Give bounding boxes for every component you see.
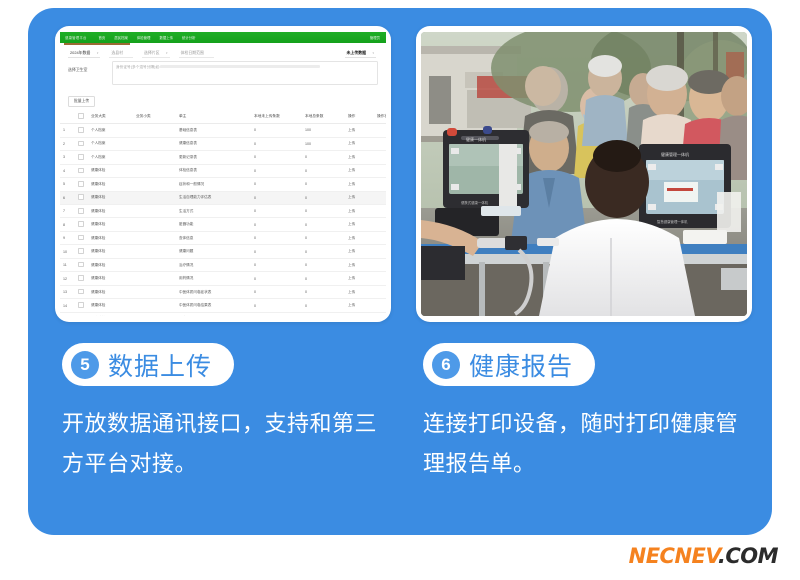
table-row[interactable]: 5健康体检症状和一般情况00上传 <box>60 178 386 191</box>
idcard-placeholder: 身份证号(多个逗号分隔)如： <box>116 65 163 70</box>
cell-item: 治疗情况 <box>176 258 251 271</box>
navbar-item-3[interactable]: 数据上传 <box>159 35 173 40</box>
row-checkbox[interactable] <box>75 178 88 191</box>
cell-category: 个人档案 <box>88 124 133 137</box>
cell-index: 11 <box>60 258 75 271</box>
cell-index: 14 <box>60 299 75 312</box>
filter-status-select[interactable]: 未上传数据 ▾ <box>345 50 376 59</box>
filter-area-select[interactable]: 选择片区 ▾ <box>142 50 170 59</box>
th-checkbox[interactable] <box>75 110 88 123</box>
section-title-6: 健康报告 <box>469 347 573 383</box>
cell-item: 生活自理能力评估表 <box>176 191 251 204</box>
cell-pending-count: 0 <box>251 204 302 217</box>
watermark-tld: .COM <box>718 544 778 568</box>
cell-category: 健康体检 <box>88 272 133 285</box>
cell-subcategory <box>133 299 176 312</box>
cell-pending-count: 0 <box>251 178 302 191</box>
cell-index: 15 <box>60 312 75 316</box>
th-item: 单主 <box>176 110 251 123</box>
cell-total-count: 0 <box>302 151 345 164</box>
cell-index: 7 <box>60 204 75 217</box>
cell-category: 健康体检 <box>88 299 133 312</box>
cell-index: 8 <box>60 218 75 231</box>
th-operation: 操作 <box>345 110 374 123</box>
cell-category: 健康体检 <box>88 178 133 191</box>
select-all-checkbox[interactable] <box>78 113 84 119</box>
row-checkbox-box[interactable] <box>78 275 84 281</box>
cell-subcategory <box>133 191 176 204</box>
cell-total-count: 0 <box>302 218 345 231</box>
row-checkbox[interactable] <box>75 191 88 204</box>
cell-subcategory <box>133 272 176 285</box>
cell-index: 2 <box>60 137 75 150</box>
cell-total-count: 0 <box>302 312 345 316</box>
idcard-textarea[interactable]: 身份证号(多个逗号分隔)如： <box>112 61 378 85</box>
photo-card: 健康一体机 便携式健康一体机 <box>416 26 752 322</box>
cell-category: 健康体检 <box>88 218 133 231</box>
navbar-item-4[interactable]: 统计分析 <box>182 35 196 40</box>
cell-pending-count: 0 <box>251 312 302 316</box>
cell-subcategory <box>133 164 176 177</box>
cell-pending-count: 0 <box>251 137 302 150</box>
table-row[interactable]: 8健康体检脏器功能00上传 <box>60 218 386 231</box>
cell-total-count: 0 <box>302 245 345 258</box>
cell-subcategory <box>133 124 176 137</box>
row-checkbox-box[interactable] <box>78 302 84 308</box>
cell-category: 健康体检 <box>88 258 133 271</box>
cell-upload-link[interactable]: 上传 <box>345 124 374 137</box>
cell-upload-link[interactable]: 上传 <box>345 178 374 191</box>
table-row[interactable]: 6健康体检生活自理能力评估表00上传 <box>60 191 386 204</box>
row-checkbox[interactable] <box>75 272 88 285</box>
row-checkbox[interactable] <box>75 151 88 164</box>
table-row[interactable]: 11健康体检治疗情况00上传 <box>60 258 386 271</box>
cell-category: 个人档案 <box>88 151 133 164</box>
navbar-user[interactable]: 管理员 <box>370 35 380 40</box>
photo-illustration: 健康一体机 便携式健康一体机 <box>421 32 747 316</box>
cell-index: 1 <box>60 124 75 137</box>
clinic-field-label: 选择卫生室 <box>68 61 112 73</box>
cell-operation-status <box>374 272 386 285</box>
cell-operation-status <box>374 299 386 312</box>
cell-index: 9 <box>60 231 75 244</box>
row-checkbox[interactable] <box>75 164 88 177</box>
cell-operation-status <box>374 231 386 244</box>
section-body-6: 连接打印设备，随时打印健康管理报告单。 <box>423 405 743 485</box>
poster-root: 健康管理平台 首页 居民档案 体检管理 数据上传 统计分析 管理员 2024年数… <box>0 0 800 580</box>
cell-upload-link[interactable]: 上传 <box>345 245 374 258</box>
cell-pending-count: 0 <box>251 272 302 285</box>
section-pill-5: 5 数据上传 <box>62 343 234 386</box>
row-checkbox-box[interactable] <box>78 141 84 147</box>
chevron-down-icon: ▾ <box>372 51 374 55</box>
cell-pending-count: 0 <box>251 164 302 177</box>
filter-daterange-select[interactable]: 体检日期范围 <box>179 50 214 59</box>
cell-upload-link[interactable]: 上传 <box>345 191 374 204</box>
cell-operation-status <box>374 137 386 150</box>
svg-text:便携式健康一体机: 便携式健康一体机 <box>461 200 489 205</box>
row-checkbox-box[interactable] <box>78 248 84 254</box>
cell-operation-status <box>374 151 386 164</box>
cell-total-count: 100 <box>302 124 345 137</box>
cell-item: 脏器功能 <box>176 218 251 231</box>
table-row[interactable]: 14健康体检中医体质问卷结果表00上传 <box>60 299 386 312</box>
cell-upload-link[interactable]: 上传 <box>345 231 374 244</box>
cell-index: 13 <box>60 285 75 298</box>
svg-text:健康一体机: 健康一体机 <box>466 136 486 142</box>
filter-area-label: 选择片区 <box>144 50 160 55</box>
table-row[interactable]: 3个人档案更新记录表00上传 <box>60 151 386 164</box>
section-badge-6: 6 <box>432 351 460 379</box>
cell-upload-link[interactable]: 上传 <box>345 285 374 298</box>
cell-item: 更新记录表 <box>176 151 251 164</box>
table-row[interactable]: 2个人档案健康信息表0100上传 <box>60 137 386 150</box>
th-index <box>60 110 75 123</box>
health-checkup-photo: 健康一体机 便携式健康一体机 <box>421 32 747 316</box>
cell-index: 3 <box>60 151 75 164</box>
upload-table-body: 1个人档案基础信息表0100上传2个人档案健康信息表0100上传3个人档案更新记… <box>60 124 386 316</box>
table-row[interactable]: 1个人档案基础信息表0100上传 <box>60 124 386 137</box>
cell-total-count: 0 <box>302 258 345 271</box>
row-checkbox-box[interactable] <box>78 262 84 268</box>
row-checkbox-box[interactable] <box>78 154 84 160</box>
cell-index: 5 <box>60 178 75 191</box>
app-navbar: 健康管理平台 首页 居民档案 体检管理 数据上传 统计分析 管理员 <box>60 32 386 43</box>
clinic-form-row: 选择卫生室 身份证号(多个逗号分隔)如： <box>60 61 386 89</box>
cell-total-count: 0 <box>302 231 345 244</box>
cell-category: 健康体检 <box>88 164 133 177</box>
screenshot-card: 健康管理平台 首页 居民档案 体检管理 数据上传 统计分析 管理员 2024年数… <box>55 26 391 322</box>
cell-operation-status <box>374 258 386 271</box>
cell-item: 中医体质问卷结果表 <box>176 299 251 312</box>
cell-upload-link[interactable]: 上传 <box>345 204 374 217</box>
row-checkbox-box[interactable] <box>78 168 84 174</box>
filter-village-select[interactable]: 选县村 <box>109 50 133 59</box>
cell-total-count: 0 <box>302 272 345 285</box>
cell-item: 中医体质问卷症状表 <box>176 285 251 298</box>
th-pending-count: 本地未上传条数 <box>251 110 302 123</box>
cell-pending-count: 0 <box>251 124 302 137</box>
cell-pending-count: 0 <box>251 258 302 271</box>
cell-upload-link[interactable]: 上传 <box>345 164 374 177</box>
cell-index: 10 <box>60 245 75 258</box>
row-checkbox-box[interactable] <box>78 127 84 133</box>
cell-item: 基础信息表 <box>176 124 251 137</box>
cell-pending-count: 0 <box>251 285 302 298</box>
row-checkbox-box[interactable] <box>78 221 84 227</box>
cell-total-count: 0 <box>302 299 345 312</box>
cell-pending-count: 0 <box>251 191 302 204</box>
svg-text:智慧健康管理一体机: 智慧健康管理一体机 <box>657 219 688 224</box>
cell-item: 生活方式 <box>176 204 251 217</box>
watermark: NECNEV.COM <box>629 544 778 568</box>
cell-total-count: 0 <box>302 204 345 217</box>
cell-subcategory <box>133 151 176 164</box>
cell-subcategory <box>133 137 176 150</box>
row-checkbox[interactable] <box>75 299 88 312</box>
watermark-name: NECNEV <box>629 544 718 568</box>
app-screenshot: 健康管理平台 首页 居民档案 体检管理 数据上传 统计分析 管理员 2024年数… <box>60 32 386 316</box>
cell-item: 查体信息 <box>176 231 251 244</box>
upload-table: 业务大类 业务小类 单主 本地未上传条数 本地总条数 操作 操作状态 1个人档案… <box>60 110 386 316</box>
cell-operation-status <box>374 164 386 177</box>
cell-upload-link[interactable]: 上传 <box>345 151 374 164</box>
cell-subcategory <box>133 312 176 316</box>
filter-year-label: 2024年数据 <box>70 50 90 55</box>
cell-category: 健康体检 <box>88 312 133 316</box>
cell-subcategory <box>133 231 176 244</box>
row-checkbox[interactable] <box>75 285 88 298</box>
table-row[interactable]: 12健康体检用药情况00上传 <box>60 272 386 285</box>
row-checkbox[interactable] <box>75 231 88 244</box>
table-row[interactable]: 9健康体检查体信息00上传 <box>60 231 386 244</box>
section-badge-5: 5 <box>71 351 99 379</box>
svg-text:健康管理一体机: 健康管理一体机 <box>661 151 689 157</box>
cell-item: 症状和一般情况 <box>176 178 251 191</box>
navbar-item-0[interactable]: 首页 <box>99 35 106 40</box>
cell-pending-count: 0 <box>251 231 302 244</box>
cell-operation-status <box>374 178 386 191</box>
filter-year-select[interactable]: 2024年数据 ▾ <box>68 50 100 59</box>
cell-upload-link[interactable]: 上传 <box>345 299 374 312</box>
table-header-row: 业务大类 业务小类 单主 本地未上传条数 本地总条数 操作 操作状态 <box>60 110 386 123</box>
row-checkbox[interactable] <box>75 258 88 271</box>
cell-category: 健康体检 <box>88 191 133 204</box>
idcard-entered-values <box>160 65 320 68</box>
cell-operation-status <box>374 204 386 217</box>
row-checkbox[interactable] <box>75 312 88 316</box>
row-checkbox[interactable] <box>75 137 88 150</box>
th-total-count: 本地总条数 <box>302 110 345 123</box>
cell-subcategory <box>133 285 176 298</box>
cell-item: 体检信息表 <box>176 164 251 177</box>
th-subcategory: 业务小类 <box>133 110 176 123</box>
cell-operation-status <box>374 191 386 204</box>
navbar-item-1[interactable]: 居民档案 <box>114 35 128 40</box>
cell-upload-link[interactable]: 上传 <box>345 137 374 150</box>
row-checkbox-box[interactable] <box>78 289 84 295</box>
cell-pending-count: 0 <box>251 151 302 164</box>
navbar-brand: 健康管理平台 <box>65 35 87 40</box>
cell-operation-status <box>374 124 386 137</box>
cell-pending-count: 0 <box>251 299 302 312</box>
cell-category: 健康体检 <box>88 245 133 258</box>
cell-index: 12 <box>60 272 75 285</box>
row-checkbox-box[interactable] <box>78 208 84 214</box>
cell-upload-link[interactable]: 上传 <box>345 272 374 285</box>
section-title-5: 数据上传 <box>108 347 212 383</box>
table-row[interactable]: 13健康体检中医体质问卷症状表00上传 <box>60 285 386 298</box>
cell-index: 6 <box>60 191 75 204</box>
cell-item: 健康信息表 <box>176 137 251 150</box>
th-operation-status: 操作状态 <box>374 110 386 123</box>
row-checkbox[interactable] <box>75 124 88 137</box>
cell-operation-status <box>374 245 386 258</box>
cell-operation-status <box>374 218 386 231</box>
cell-subcategory <box>133 245 176 258</box>
cell-upload-link[interactable]: 上传 <box>345 218 374 231</box>
table-row[interactable]: 7健康体检生活方式00上传 <box>60 204 386 217</box>
cell-upload-link[interactable]: 上传 <box>345 312 374 316</box>
row-checkbox-box[interactable] <box>78 181 84 187</box>
cell-category: 个人档案 <box>88 137 133 150</box>
cell-total-count: 100 <box>302 137 345 150</box>
section-pill-6: 6 健康报告 <box>423 343 595 386</box>
cell-subcategory <box>133 204 176 217</box>
chevron-down-icon: ▾ <box>97 51 99 55</box>
cell-subcategory <box>133 258 176 271</box>
cell-index: 4 <box>60 164 75 177</box>
cell-category: 健康体检 <box>88 285 133 298</box>
cell-operation-status <box>374 285 386 298</box>
cell-total-count: 0 <box>302 285 345 298</box>
cell-total-count: 0 <box>302 191 345 204</box>
filter-status-label: 未上传数据 <box>347 50 366 55</box>
cell-total-count: 0 <box>302 178 345 191</box>
cell-operation-status <box>374 312 386 316</box>
navbar-menu[interactable]: 首页 居民档案 体检管理 数据上传 统计分析 <box>99 35 196 40</box>
section-body-5: 开放数据通讯接口，支持和第三方平台对接。 <box>62 405 382 485</box>
navbar-item-2[interactable]: 体检管理 <box>137 35 151 40</box>
th-category: 业务大类 <box>88 110 133 123</box>
cell-item: 心电 <box>176 312 251 316</box>
table-row[interactable]: 10健康体检健康问题00上传 <box>60 245 386 258</box>
cell-subcategory <box>133 178 176 191</box>
table-row[interactable]: 4健康体检体检信息表00上传 <box>60 164 386 177</box>
cell-upload-link[interactable]: 上传 <box>345 258 374 271</box>
filter-bar: 2024年数据 ▾ 选县村 选择片区 ▾ 体检日期范围 未上传数据 ▾ <box>60 45 386 62</box>
cell-total-count: 0 <box>302 164 345 177</box>
table-row[interactable]: 15健康体检心电00上传 <box>60 312 386 316</box>
cell-category: 健康体检 <box>88 231 133 244</box>
row-checkbox-box[interactable] <box>78 194 84 200</box>
filter-village-label: 选县村 <box>111 50 123 55</box>
cell-pending-count: 0 <box>251 245 302 258</box>
cell-pending-count: 0 <box>251 218 302 231</box>
filter-daterange-label: 体检日期范围 <box>181 50 204 55</box>
row-checkbox[interactable] <box>75 245 88 258</box>
cell-item: 用药情况 <box>176 272 251 285</box>
row-checkbox[interactable] <box>75 218 88 231</box>
chevron-down-icon: ▾ <box>166 51 168 55</box>
row-checkbox-box[interactable] <box>78 235 84 241</box>
batch-upload-button[interactable]: 批量上传 <box>68 96 95 108</box>
row-checkbox[interactable] <box>75 204 88 217</box>
cell-category: 健康体检 <box>88 204 133 217</box>
cell-item: 健康问题 <box>176 245 251 258</box>
cell-subcategory <box>133 218 176 231</box>
